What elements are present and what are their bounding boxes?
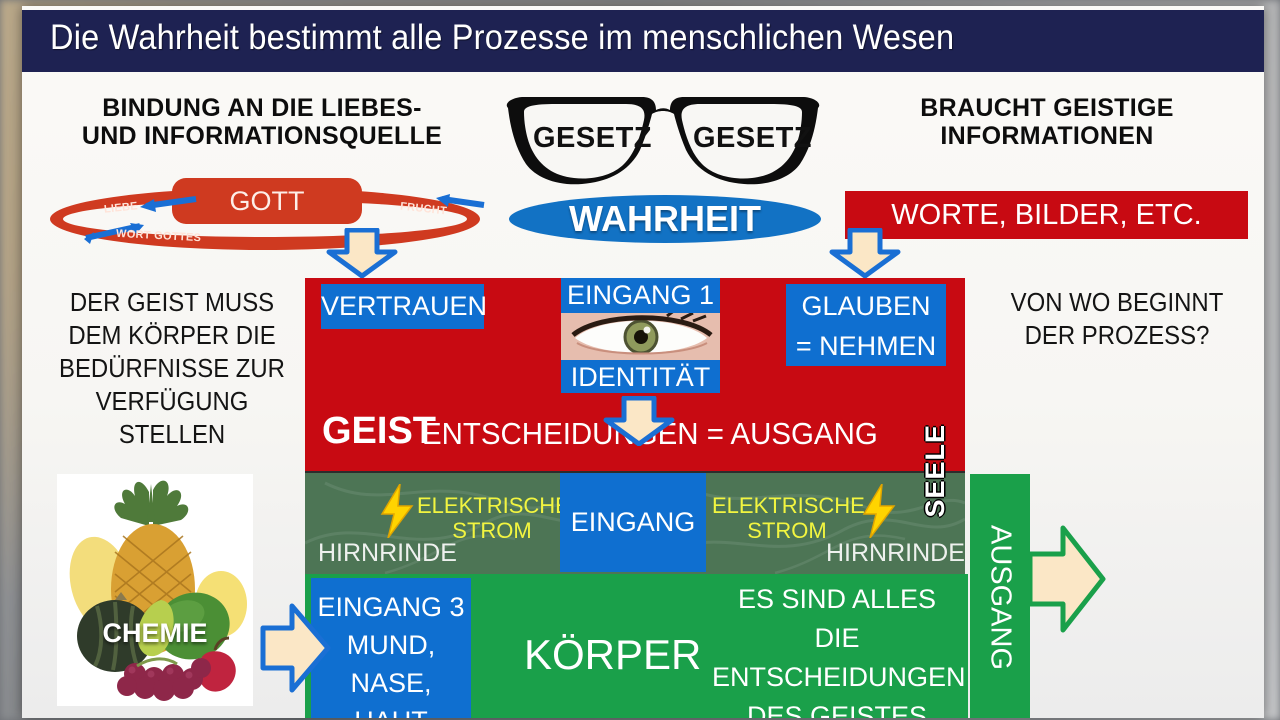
- text-von-wo-beginnt-line1: VON WO BEGINNT: [988, 286, 1246, 319]
- slide-stage: Die Wahrheit bestimmt alle Prozesse im m…: [0, 0, 1280, 720]
- es-sind-line3: DES GEISTES: [712, 697, 962, 718]
- arrow-right-chemie-icon: [260, 596, 332, 700]
- worte-bilder-bar: WORTE, BILDER, ETC.: [845, 191, 1248, 239]
- fruit-basket-image: [57, 474, 253, 706]
- arrow-down-left-icon: [325, 228, 399, 278]
- label-koerper: KÖRPER: [524, 631, 701, 679]
- label-chemie: CHEMIE: [57, 618, 253, 649]
- heading-bindung-line1: BINDUNG AN DIE LIEBES-: [52, 94, 472, 122]
- slide-title-bar: Die Wahrheit bestimmt alle Prozesse im m…: [22, 10, 1264, 72]
- lightning-bolt-right-icon: [862, 484, 896, 538]
- label-geist: GEIST: [322, 410, 436, 453]
- text-geist-muss-line4: VERFÜGUNG STELLEN: [43, 385, 301, 451]
- ausgang-text: AUSGANG: [984, 525, 1017, 670]
- glasses-graphic: GESETZ GESETZ: [500, 94, 826, 192]
- elektrische-left-line1: ELEKTRISCHE: [417, 493, 567, 518]
- label-seele: SEELE: [920, 424, 951, 518]
- lens-label-right: GESETZ: [693, 122, 812, 155]
- heading-bindung-line2: UND INFORMATIONSQUELLE: [52, 122, 472, 150]
- text-von-wo-beginnt-line2: DER PROZESS?: [988, 319, 1246, 352]
- label-elektrische-strom-right: ELEKTRISCHE STROM: [712, 493, 862, 543]
- eingang3-line1: EINGANG 3: [311, 588, 471, 626]
- text-von-wo-beginnt: VON WO BEGINNT DER PROZESS?: [988, 286, 1246, 352]
- box-eingang-2[interactable]: EINGANG 2: [560, 473, 706, 572]
- eingang3-line2: MUND, NASE,: [311, 626, 471, 702]
- liebe-arrow-icon: [136, 193, 202, 215]
- label-ausgang: AUSGANG: [970, 474, 1030, 718]
- fruit-photo: [57, 474, 253, 706]
- presentation-slide: Die Wahrheit bestimmt alle Prozesse im m…: [22, 6, 1264, 718]
- eye-photo: [561, 313, 720, 360]
- page-title: Die Wahrheit bestimmt alle Prozesse im m…: [50, 18, 954, 58]
- elektrische-right-line1: ELEKTRISCHE: [712, 493, 862, 518]
- heading-braucht-line2: INFORMATIONEN: [857, 122, 1237, 150]
- box-glauben-line2: = NEHMEN: [786, 326, 946, 366]
- box-eingang-3[interactable]: EINGANG 3 MUND, NASE, HAUT: [311, 578, 471, 718]
- es-sind-line1: ES SIND ALLES DIE: [712, 580, 962, 658]
- heading-braucht: BRAUCHT GEISTIGE INFORMATIONEN: [857, 94, 1237, 150]
- text-geist-muss-line2: DEM KÖRPER DIE: [43, 319, 301, 352]
- wahrheit-label: WAHRHEIT: [509, 196, 821, 244]
- text-geist-muss-line1: DER GEIST MUSS: [43, 286, 301, 319]
- eingang3-line3: HAUT: [311, 702, 471, 718]
- lightning-bolt-left-icon: [380, 484, 414, 538]
- box-glauben[interactable]: GLAUBEN = NEHMEN: [786, 284, 946, 366]
- box-glauben-line1: GLAUBEN: [786, 286, 946, 326]
- text-geist-muss-line3: BEDÜRFNISSE ZUR: [43, 352, 301, 385]
- eye-icon: [561, 313, 720, 360]
- box-vertrauen[interactable]: VERTRAUEN: [321, 284, 484, 329]
- arrow-down-right-icon: [828, 228, 902, 278]
- es-sind-line2: ENTSCHEIDUNGEN: [712, 658, 962, 697]
- label-hirnrinde-right: HIRNRINDE: [826, 539, 965, 568]
- text-geist-muss: DER GEIST MUSS DEM KÖRPER DIE BEDÜRFNISS…: [43, 286, 301, 451]
- arrow-right-ausgang-icon: [1027, 514, 1107, 644]
- label-es-sind-alles: ES SIND ALLES DIE ENTSCHEIDUNGEN DES GEI…: [712, 580, 962, 718]
- label-elektrische-strom-left: ELEKTRISCHE STROM: [417, 493, 567, 543]
- box-identitaet[interactable]: IDENTITÄT: [561, 360, 720, 395]
- label-hirnrinde-left: HIRNRINDE: [318, 539, 457, 568]
- arrow-down-geist-icon: [602, 396, 676, 446]
- gott-cycle-graphic: GOTT LIEBE FRUCHT WORT GOTTES: [42, 178, 490, 260]
- heading-braucht-line1: BRAUCHT GEISTIGE: [857, 94, 1237, 122]
- lens-label-left: GESETZ: [533, 122, 652, 155]
- box-eingang-1[interactable]: EINGANG 1: [561, 278, 720, 313]
- heading-bindung: BINDUNG AN DIE LIEBES- UND INFORMATIONSQ…: [52, 94, 472, 150]
